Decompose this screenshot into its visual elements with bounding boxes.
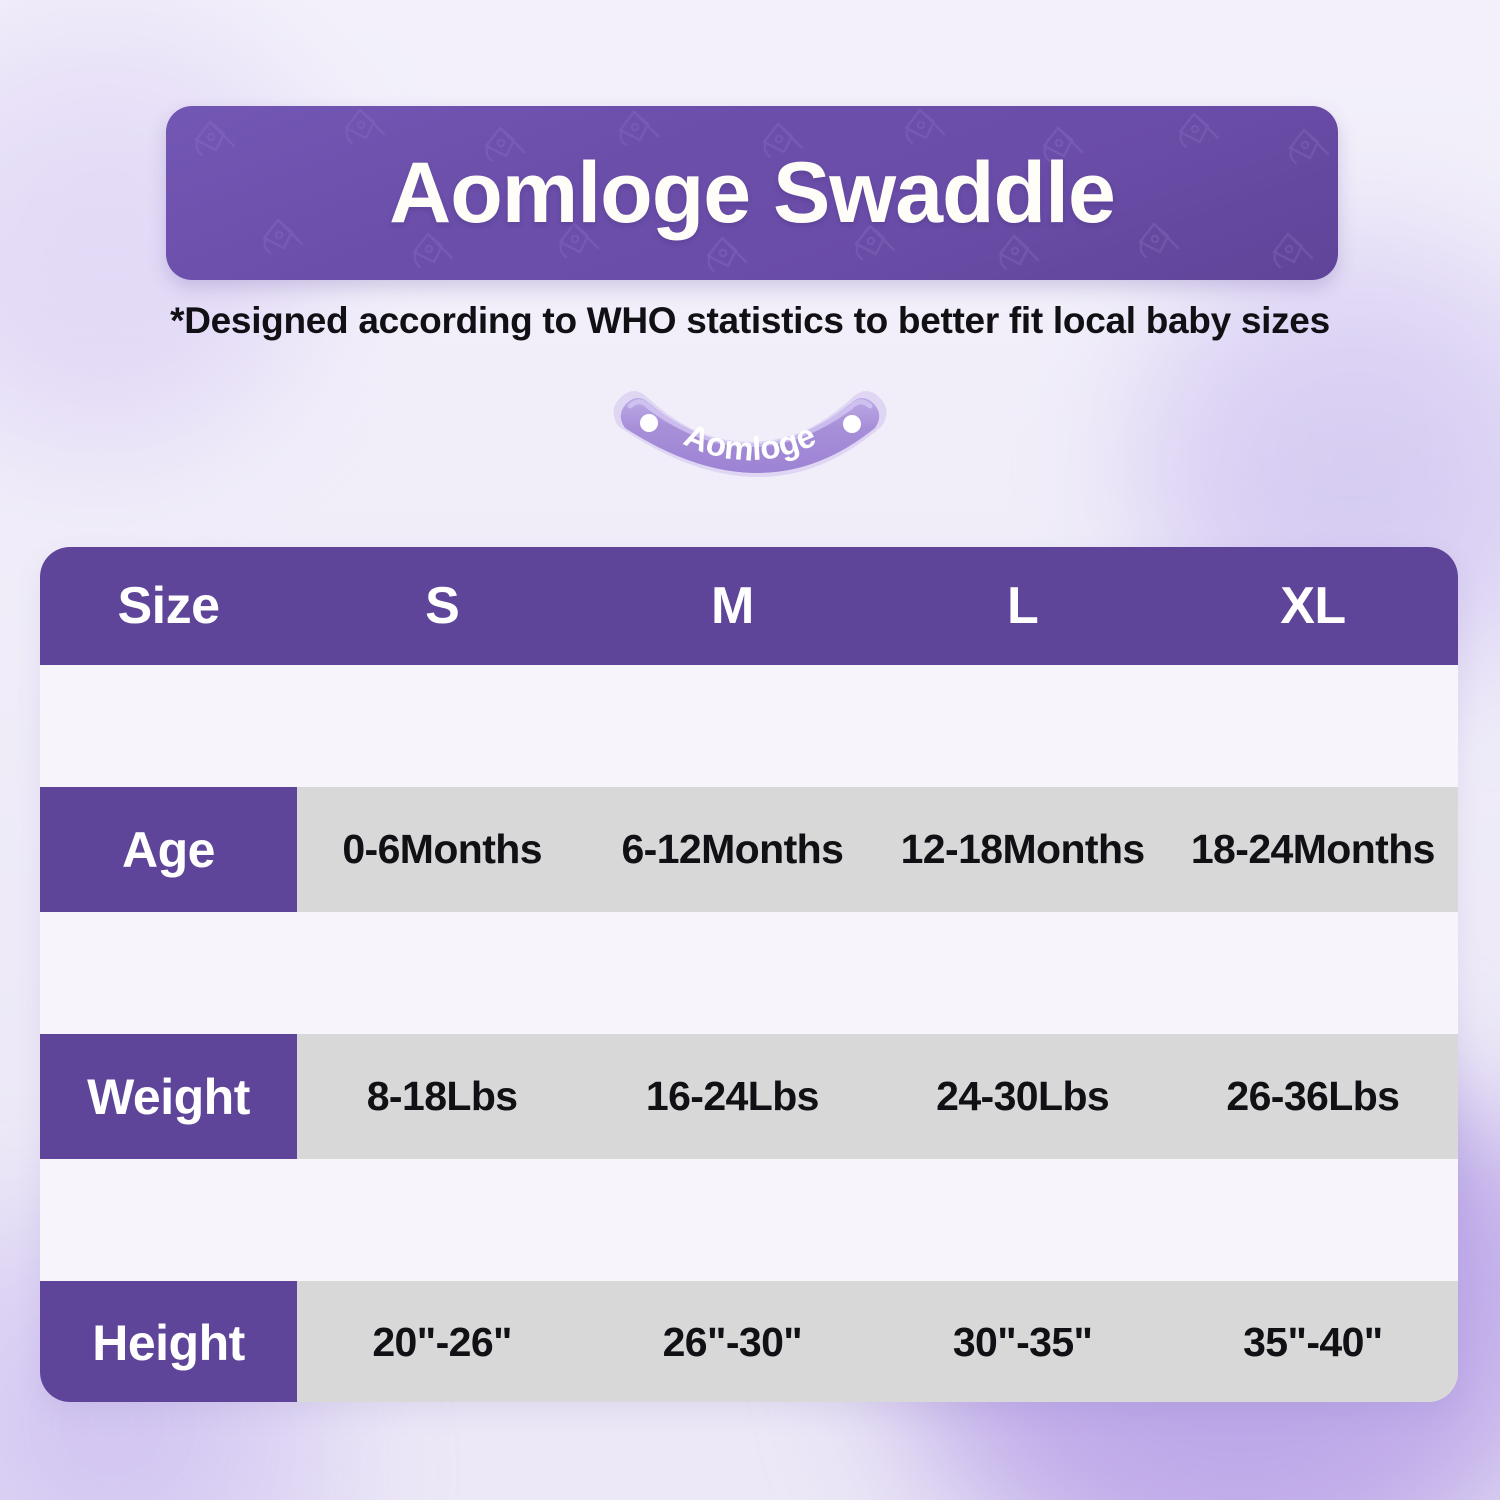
title-banner: Aomloge Swaddle — [166, 106, 1338, 280]
row-cells-height: 20"-26" 26"-30" 30"-35" 35"-40" — [297, 1281, 1458, 1402]
banner-title: Aomloge Swaddle — [166, 106, 1338, 280]
row-label-age: Age — [40, 787, 297, 912]
cell-age-l: 12-18Months — [878, 787, 1168, 912]
cell-weight-xl: 26-36Lbs — [1168, 1034, 1458, 1159]
cell-weight-m: 16-24Lbs — [587, 1034, 877, 1159]
row-label-height: Height — [40, 1281, 297, 1402]
table-row-age: Age 0-6Months 6-12Months 12-18Months 18-… — [40, 787, 1458, 912]
brand-badge: Aomloge — [604, 378, 896, 500]
row-cells-age: 0-6Months 6-12Months 12-18Months 18-24Mo… — [297, 787, 1458, 912]
header-size-m: M — [587, 547, 877, 665]
size-chart-table: Size S M L XL Age 0-6Months 6-12Months 1… — [40, 547, 1458, 1402]
aomloge-logo-icon: Aomloge — [604, 378, 896, 500]
cell-height-m: 26"-30" — [587, 1281, 877, 1402]
cell-age-m: 6-12Months — [587, 787, 877, 912]
header-size-xl: XL — [1168, 547, 1458, 665]
cell-height-s: 20"-26" — [297, 1281, 587, 1402]
table-spacer-1 — [40, 665, 1458, 787]
header-size-cells: S M L XL — [297, 547, 1458, 665]
table-header-row: Size S M L XL — [40, 547, 1458, 665]
cell-height-xl: 35"-40" — [1168, 1281, 1458, 1402]
cell-height-l: 30"-35" — [878, 1281, 1168, 1402]
cell-age-xl: 18-24Months — [1168, 787, 1458, 912]
cell-weight-s: 8-18Lbs — [297, 1034, 587, 1159]
header-size-s: S — [297, 547, 587, 665]
header-size-l: L — [878, 547, 1168, 665]
subtitle-text: *Designed according to WHO statistics to… — [0, 300, 1500, 342]
table-spacer-2 — [40, 912, 1458, 1034]
size-chart-page: Aomloge Swaddle *Designed according to W… — [0, 0, 1500, 1500]
cell-age-s: 0-6Months — [297, 787, 587, 912]
row-cells-weight: 8-18Lbs 16-24Lbs 24-30Lbs 26-36Lbs — [297, 1034, 1458, 1159]
table-spacer-3 — [40, 1159, 1458, 1281]
cell-weight-l: 24-30Lbs — [878, 1034, 1168, 1159]
table-row-weight: Weight 8-18Lbs 16-24Lbs 24-30Lbs 26-36Lb… — [40, 1034, 1458, 1159]
header-label-size: Size — [40, 547, 297, 665]
row-label-weight: Weight — [40, 1034, 297, 1159]
table-row-height: Height 20"-26" 26"-30" 30"-35" 35"-40" — [40, 1281, 1458, 1402]
